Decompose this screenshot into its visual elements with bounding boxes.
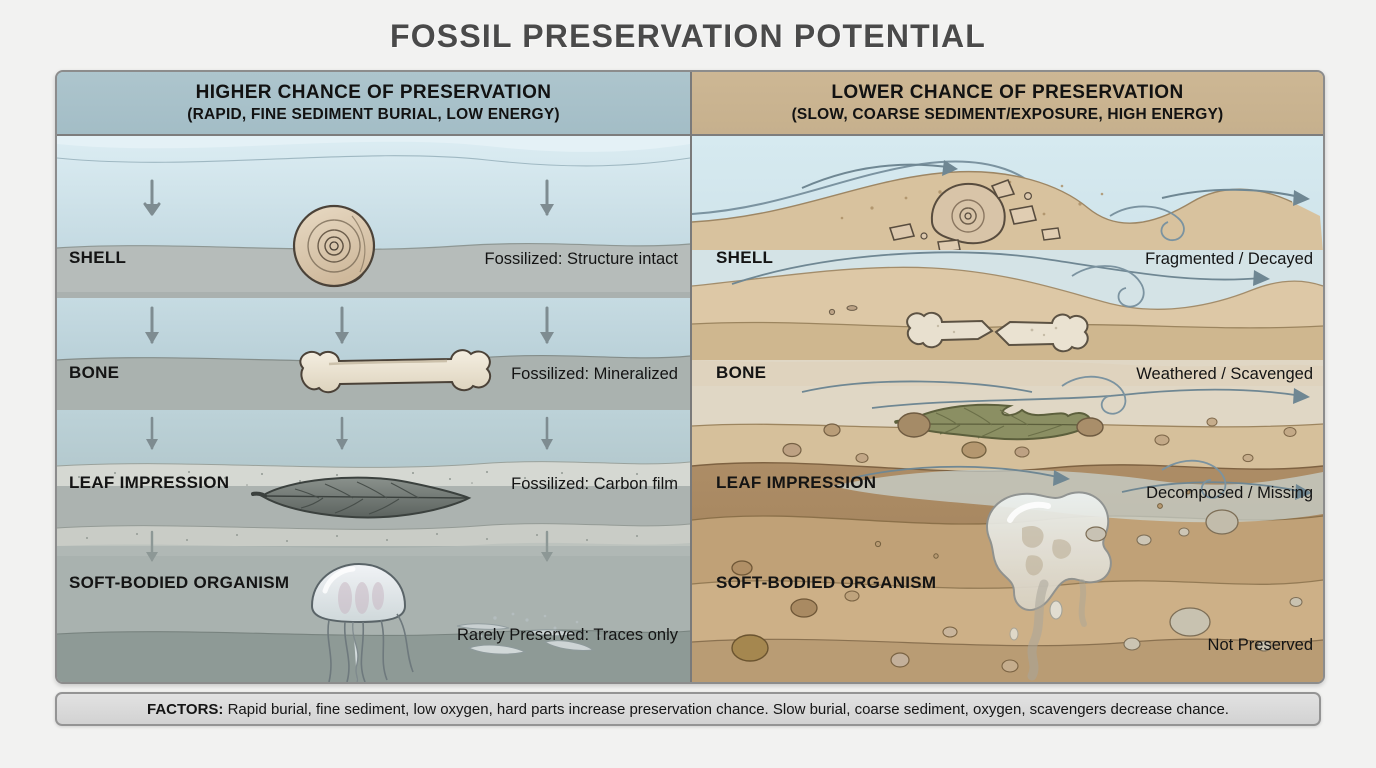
factors-label: FACTORS: [147,701,223,718]
left-column-subheading: (RAPID, FINE SEDIMENT BURIAL, LOW ENERGY… [187,106,559,124]
left-row-outcome-leaf: Fossilized: Carbon film [511,475,678,494]
right-row-label-leaf: LEAF IMPRESSION [716,473,876,493]
factors-text: FACTORS: Rapid burial, fine sediment, lo… [147,701,1229,718]
left-row-label-shell: SHELL [69,248,126,268]
left-column-header: HIGHER CHANCE OF PRESERVATION (RAPID, FI… [57,72,690,136]
comparison-board: HIGHER CHANCE OF PRESERVATION (RAPID, FI… [55,70,1325,684]
left-row-outcome-soft: Rarely Preserved: Traces only [457,626,678,645]
column-lower-chance: LOWER CHANCE OF PRESERVATION (SLOW, COAR… [690,72,1323,682]
right-row-outcome-shell: Fragmented / Decayed [1145,250,1313,269]
left-row-label-leaf: LEAF IMPRESSION [69,473,229,493]
right-row-outcome-soft: Not Preserved [1208,636,1313,655]
right-column-subheading: (SLOW, COARSE SEDIMENT/EXPOSURE, HIGH EN… [792,106,1224,124]
page-title: FOSSIL PRESERVATION POTENTIAL [0,18,1376,55]
left-row-label-soft: SOFT-BODIED ORGANISM [69,573,289,593]
right-row-label-soft: SOFT-BODIED ORGANISM [716,573,936,593]
right-scene-illustration [692,136,1323,682]
left-row-outcome-bone: Fossilized: Mineralized [511,365,678,384]
left-row-label-bone: BONE [69,363,119,383]
spiral-shell-icon [294,206,374,286]
left-row-outcome-shell: Fossilized: Structure intact [485,250,679,269]
right-row-outcome-bone: Weathered / Scavenged [1136,365,1313,384]
right-column-heading: LOWER CHANCE OF PRESERVATION [831,82,1183,104]
left-scene: SHELL Fossilized: Structure intact BONE … [57,136,690,682]
right-scene: SHELL Fragmented / Decayed BONE Weathere… [692,136,1323,682]
right-row-label-bone: BONE [716,363,766,383]
factors-body: Rapid burial, fine sediment, low oxygen,… [223,701,1229,718]
right-row-label-shell: SHELL [716,248,773,268]
column-higher-chance: HIGHER CHANCE OF PRESERVATION (RAPID, FI… [57,72,690,682]
factors-footer: FACTORS: Rapid burial, fine sediment, lo… [55,692,1321,726]
right-row-outcome-leaf: Decomposed / Missing [1146,484,1313,503]
right-column-header: LOWER CHANCE OF PRESERVATION (SLOW, COAR… [692,72,1323,136]
left-column-heading: HIGHER CHANCE OF PRESERVATION [196,82,552,104]
left-scene-illustration [57,136,690,682]
